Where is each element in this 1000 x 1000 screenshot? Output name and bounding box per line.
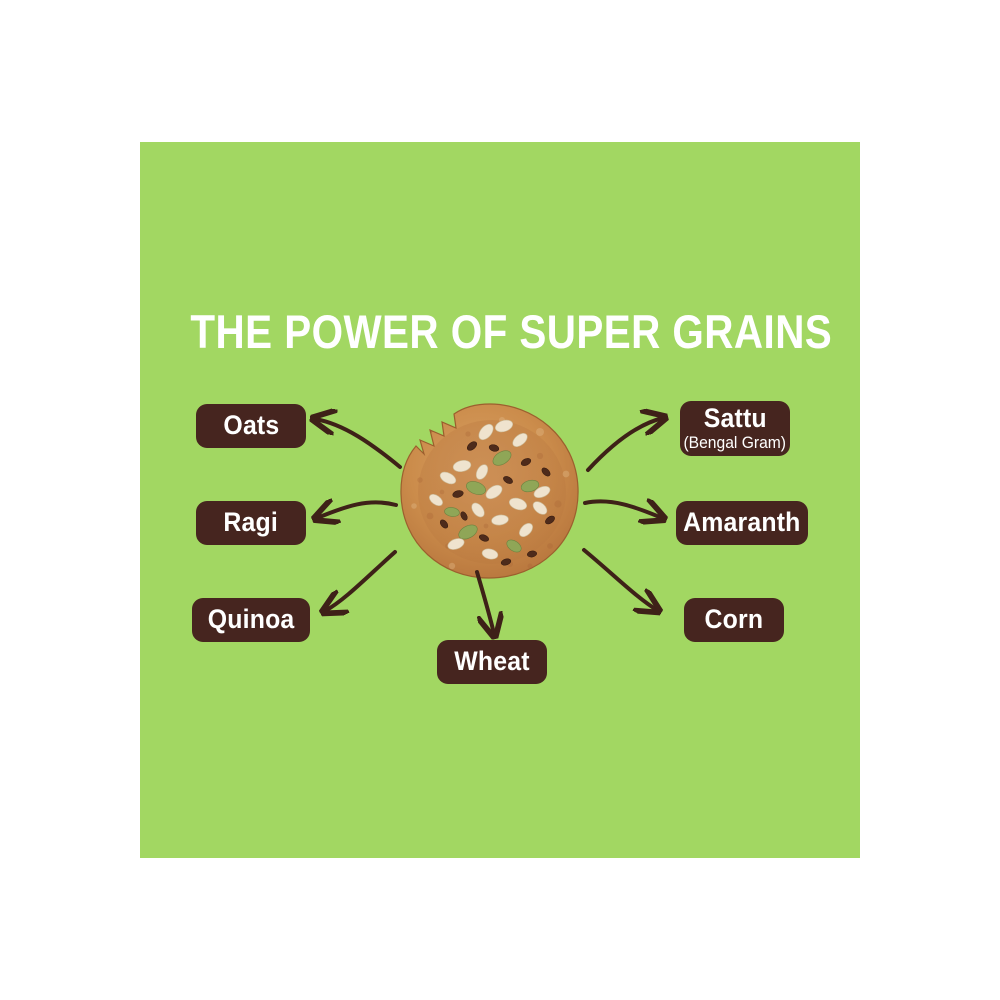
grain-label-text: Corn (705, 606, 764, 633)
infographic-canvas: THE POWER OF SUPER GRAINS (0, 0, 1000, 1000)
grain-label-oats[interactable]: Oats (196, 404, 306, 448)
grain-label-wheat[interactable]: Wheat (437, 640, 547, 684)
grain-label-quinoa[interactable]: Quinoa (192, 598, 310, 642)
grain-label-corn[interactable]: Corn (684, 598, 784, 642)
grain-label-amaranth[interactable]: Amaranth (676, 501, 808, 545)
grain-label-ragi[interactable]: Ragi (196, 501, 306, 545)
grain-label-text: Oats (223, 412, 279, 439)
grain-label-text: Amaranth (683, 509, 800, 536)
page-title: THE POWER OF SUPER GRAINS (190, 308, 809, 355)
grain-label-sattu[interactable]: Sattu (Bengal Gram) (680, 401, 790, 456)
grain-label-text: Ragi (224, 509, 279, 536)
super-grain-cookie (390, 396, 590, 586)
grain-label-text: Sattu (703, 405, 766, 432)
grain-label-text: Wheat (454, 648, 529, 675)
grain-sublabel-text: (Bengal Gram) (684, 434, 787, 451)
grain-label-text: Quinoa (208, 606, 295, 633)
